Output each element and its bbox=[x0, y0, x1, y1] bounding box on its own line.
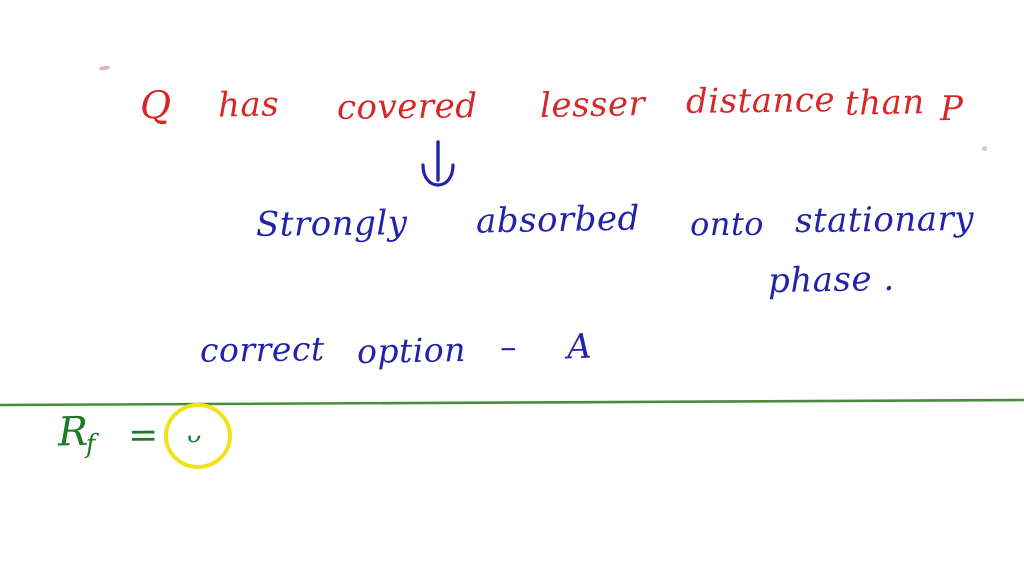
ink-speck-icon bbox=[99, 65, 110, 70]
line3-dash: – bbox=[500, 330, 517, 363]
line1-word-has: has bbox=[218, 87, 280, 122]
equals-sign: = bbox=[128, 418, 159, 454]
line1-word-covered: covered bbox=[337, 89, 478, 125]
downward-arrow-icon bbox=[412, 140, 464, 192]
line1-word-lesser: lesser bbox=[540, 87, 646, 123]
line1-word-object: P bbox=[940, 92, 964, 126]
rf-label: Rf bbox=[57, 412, 96, 459]
circled-value: ᴗ bbox=[186, 422, 201, 446]
line2-word-phase: phase . bbox=[768, 262, 895, 298]
line2-word-absorbed: absorbed bbox=[476, 201, 640, 238]
line1-word-than: than bbox=[845, 85, 925, 121]
rf-subscript: f bbox=[86, 430, 97, 460]
ink-speck-icon bbox=[982, 146, 987, 151]
rf-letter: R bbox=[57, 409, 89, 456]
line3-word-option: option bbox=[357, 333, 467, 368]
line2-word-onto: onto bbox=[690, 208, 764, 241]
line1-word-distance: distance bbox=[686, 83, 835, 119]
line2-word-stationary: stationary bbox=[795, 202, 974, 238]
handwritten-note-page: Q has covered lesser distance than P Str… bbox=[0, 0, 1024, 576]
line3-answer-letter: A bbox=[566, 330, 592, 365]
line2-word-strongly: Strongly bbox=[256, 206, 408, 242]
line1-word-subject: Q bbox=[140, 86, 172, 124]
line3-word-correct: correct bbox=[200, 332, 325, 367]
green-horizontal-rule bbox=[0, 396, 1024, 410]
